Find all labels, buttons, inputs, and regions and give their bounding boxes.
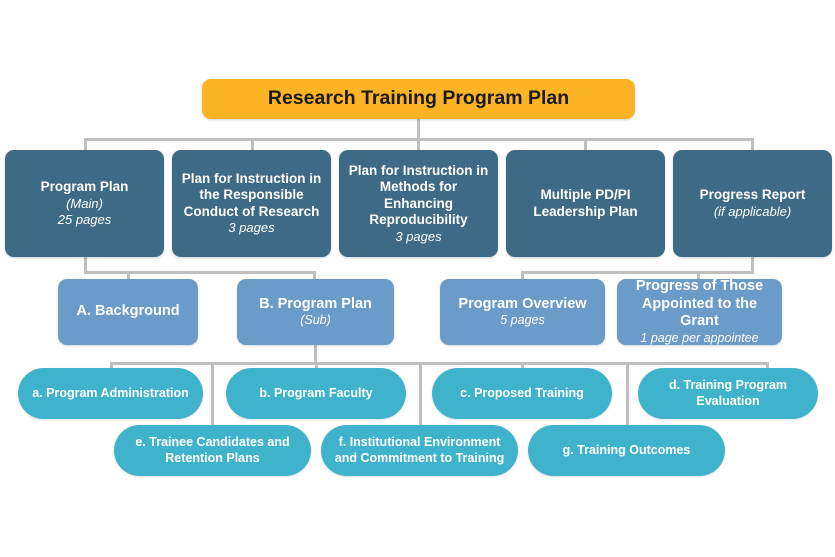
node-plan-enhancing-reproducibility[interactable]: Plan for Instruction in Methods for Enha… [339,150,498,257]
node-b-program-plan-subtitle: (Sub) [243,313,388,328]
node-e-trainee-candidates-label: e. Trainee Candidates and Retention Plan… [120,435,305,466]
node-f-institutional-environment[interactable]: f. Institutional Environment and Commitm… [321,425,518,476]
node-multiple-pdpi-leadership-plan[interactable]: Multiple PD/PI Leadership Plan [506,150,665,257]
connector-drop-training-outcomes [626,362,629,430]
node-program-overview[interactable]: Program Overview 5 pages [440,279,605,345]
connector-drop-trainee-candidates [211,362,214,430]
node-progress-report-subtitle: (if applicable) [679,204,826,220]
node-b-program-faculty[interactable]: b. Program Faculty [226,368,406,419]
connector-root-stem [417,118,420,140]
node-leadership-title: Multiple PD/PI Leadership Plan [512,187,659,220]
node-program-plan-title: Program Plan [11,179,158,195]
node-rcr-pages: 3 pages [178,220,325,236]
node-a-background-label: A. Background [64,303,192,321]
node-g-training-outcomes[interactable]: g. Training Outcomes [528,425,725,476]
node-root-label: Research Training Program Plan [208,87,629,111]
node-c-proposed-training-label: c. Proposed Training [438,386,606,401]
node-e-trainee-candidates[interactable]: e. Trainee Candidates and Retention Plan… [114,425,311,476]
node-progress-report-title: Progress Report [679,187,826,203]
org-chart: Research Training Program Plan Program P… [0,0,835,557]
node-a-background[interactable]: A. Background [58,279,198,345]
node-f-institutional-environment-label: f. Institutional Environment and Commitm… [327,435,512,466]
connector-stem-program-plan-sub [314,344,317,364]
connector-bus-program-plan [84,271,316,274]
node-reproducibility-pages: 3 pages [345,229,492,245]
node-program-plan-pages: 25 pages [11,212,158,228]
node-b-program-plan[interactable]: B. Program Plan (Sub) [237,279,394,345]
node-rcr-title: Plan for Instruction in the Responsible … [178,171,325,220]
node-d-training-program-evaluation-label: d. Training Program Evaluation [644,378,812,409]
node-program-plan-subtitle: (Main) [11,196,158,212]
connector-drop-institutional-environment [419,362,422,430]
node-b-program-faculty-label: b. Program Faculty [232,386,400,401]
node-c-proposed-training[interactable]: c. Proposed Training [432,368,612,419]
node-d-training-program-evaluation[interactable]: d. Training Program Evaluation [638,368,818,419]
node-progress-of-appointees[interactable]: Progress of Those Appointed to the Grant… [617,279,782,345]
node-appointees-pages: 1 page per appointee [623,331,776,346]
node-program-overview-pages: 5 pages [446,313,599,328]
node-root-research-training-program-plan[interactable]: Research Training Program Plan [202,79,635,119]
node-a-program-administration[interactable]: a. Program Administration [18,368,203,419]
node-progress-report[interactable]: Progress Report (if applicable) [673,150,832,257]
node-plan-responsible-conduct-research[interactable]: Plan for Instruction in the Responsible … [172,150,331,257]
node-appointees-label: Progress of Those Appointed to the Grant [623,278,776,331]
connector-bus-progress-report [521,271,754,274]
node-reproducibility-title: Plan for Instruction in Methods for Enha… [345,163,492,229]
node-b-program-plan-label: B. Program Plan [243,296,388,314]
node-program-plan[interactable]: Program Plan (Main) 25 pages [5,150,164,257]
connector-bus-level4 [110,362,768,365]
node-g-training-outcomes-label: g. Training Outcomes [534,443,719,458]
node-program-overview-label: Program Overview [446,296,599,314]
node-a-program-administration-label: a. Program Administration [24,386,197,401]
